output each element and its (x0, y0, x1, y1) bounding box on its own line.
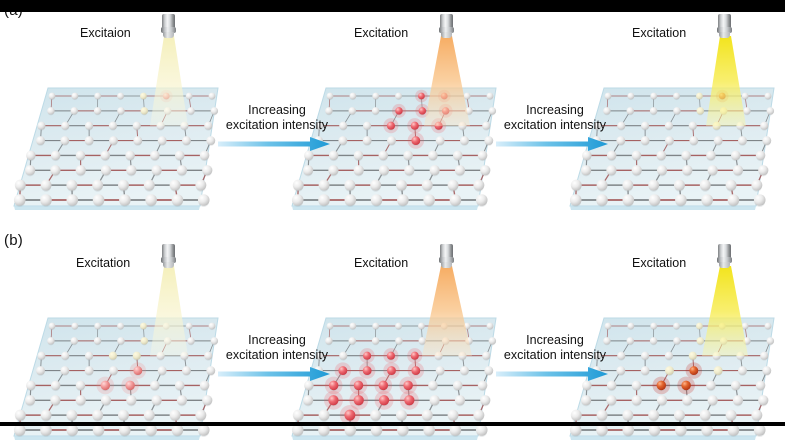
arrow-a-2-line1: Increasing (496, 103, 614, 118)
arrow-a-2-line2: excitation intensity (496, 118, 614, 133)
arrow-b-1: Increasing excitation intensity (218, 333, 336, 382)
lamp-lens (163, 32, 174, 38)
figure-canvas: (a) Excitaion (0, 0, 785, 426)
arrow-a-2: Increasing excitation intensity (496, 103, 614, 152)
arrow-a-2-glyph (496, 136, 614, 152)
lamp-lens (441, 32, 452, 38)
lamp-icon-a3 (716, 14, 733, 40)
excitation-label-a2: Excitation (354, 26, 408, 40)
panel-label-b: (b) (4, 232, 23, 249)
lamp-icon-b2 (438, 244, 455, 270)
lamp-icon-b1 (160, 244, 177, 270)
arrow-a-1: Increasing excitation intensity (218, 103, 336, 152)
arrow-b-1-line2: excitation intensity (218, 348, 336, 363)
excitation-label-b2: Excitation (354, 256, 408, 270)
lamp-icon-b3 (716, 244, 733, 270)
crop-bar-bottom (0, 422, 785, 426)
arrow-b-1-glyph (218, 366, 336, 382)
lamp-lens (719, 32, 730, 38)
crop-bar-top (0, 0, 785, 12)
excitation-label-a3: Excitation (632, 26, 686, 40)
arrow-b-2-glyph (496, 366, 614, 382)
arrow-a-1-glyph (218, 136, 336, 152)
excitation-label-b1: Excitation (76, 256, 130, 270)
excitation-label-a1: Excitaion (80, 26, 131, 40)
lamp-lens (719, 262, 730, 268)
lamp-lens (441, 262, 452, 268)
arrow-a-1-line1: Increasing (218, 103, 336, 118)
frame-a1: Excitaion (10, 14, 225, 214)
lattice-plate-a1 (10, 84, 225, 214)
arrow-a-1-line2: excitation intensity (218, 118, 336, 133)
arrow-b-1-line1: Increasing (218, 333, 336, 348)
lamp-icon-a2 (438, 14, 455, 40)
lamp-icon-a1 (160, 14, 177, 40)
arrow-b-2: Increasing excitation intensity (496, 333, 614, 382)
excitation-label-b3: Excitation (632, 256, 686, 270)
arrow-b-2-line1: Increasing (496, 333, 614, 348)
arrow-b-2-line2: excitation intensity (496, 348, 614, 363)
frame-b1: Excitation (10, 244, 225, 444)
lamp-lens (163, 262, 174, 268)
